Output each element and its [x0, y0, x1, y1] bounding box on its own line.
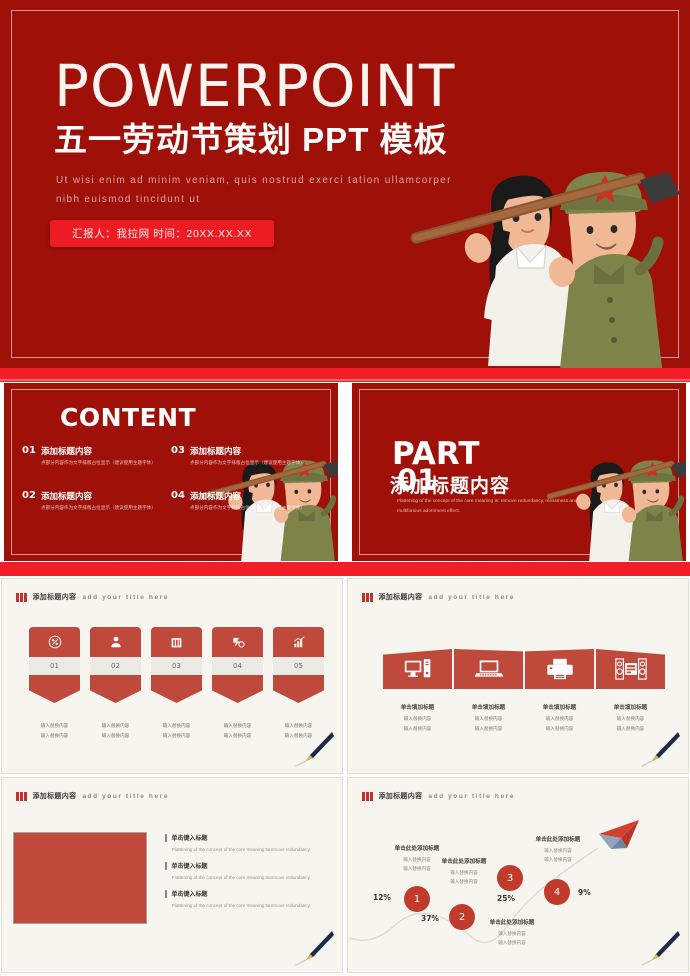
- part-english-text: Flattening of the concept of the core me…: [397, 497, 597, 517]
- ppt-template-preview: POWERPOINT 五一劳动节策划 PPT 模板 Ut wisi enim a…: [0, 0, 690, 976]
- device-card[interactable]: [525, 649, 594, 689]
- chart-annotation-2: 单击此处添加标题 输入替换内容 输入替换内容: [426, 857, 502, 887]
- caption-line: 输入替换内容: [273, 721, 324, 731]
- banner-captions: 输入替换内容 输入替换内容 输入替换内容 输入替换内容 输入替换内容 输入替换内…: [29, 721, 324, 740]
- banner-icon-area: [29, 627, 80, 657]
- caption-line: 输入替换内容: [212, 721, 263, 731]
- chart-annotation-3: 单击此处添加标题 输入替换内容 输入替换内容: [474, 918, 550, 948]
- annotation-line: 输入替换内容: [426, 877, 502, 886]
- banner-tail: [29, 675, 80, 703]
- chart-node-1[interactable]: 1: [404, 886, 430, 912]
- device-caption-line: 输入替换内容: [454, 724, 523, 734]
- annotation-line: 输入替换内容: [426, 868, 502, 877]
- toc-number: 04: [171, 490, 183, 511]
- device-card[interactable]: [383, 649, 452, 689]
- device-caption: 单击填加标题 输入替换内容 输入替换内容: [383, 703, 452, 733]
- device-caption-line: 输入替换内容: [596, 724, 665, 734]
- block-marker-icon: [165, 890, 167, 898]
- desktop-computer-icon: [404, 658, 432, 680]
- toc-row: 02 添加标题内容 点部分内容作为文字排版占位显示（建议使用主题字体） 04 添…: [22, 490, 314, 511]
- device-captions: 单击填加标题 输入替换内容 输入替换内容 单击填加标题 输入替换内容 输入替换内…: [383, 703, 665, 733]
- caption-line: 输入替换内容: [29, 721, 80, 731]
- red-bars-icon: [362, 593, 373, 602]
- banner-item[interactable]: 05: [273, 627, 324, 703]
- annotation-title: 单击此处添加标题: [520, 835, 596, 843]
- header-title-en: add your title here: [82, 793, 169, 800]
- device-caption-line: 输入替换内容: [383, 724, 452, 734]
- person-icon: [109, 635, 123, 649]
- fountain-pen-icon: [636, 729, 682, 769]
- toc-title: 添加标题内容: [41, 445, 165, 457]
- device-caption: 单击填加标题 输入替换内容 输入替换内容: [454, 703, 523, 733]
- annotation-line: 输入替换内容: [474, 938, 550, 947]
- cover-subtitle: 五一劳动节策划 PPT 模板: [54, 118, 514, 162]
- banner-item[interactable]: 03: [151, 627, 202, 703]
- slide-five-banners[interactable]: 添加标题内容 add your title here 01: [1, 578, 343, 774]
- toc-item-01[interactable]: 01 添加标题内容 点部分内容作为文字排版占位显示（建议使用主题字体）: [22, 445, 165, 466]
- toc-title: 添加标题内容: [190, 445, 314, 457]
- red-separator-strip-2: [0, 562, 690, 576]
- block-marker-icon: [165, 862, 167, 870]
- chart-node-2[interactable]: 2: [449, 904, 475, 930]
- device-card[interactable]: [596, 649, 665, 689]
- slide-header: 添加标题内容 add your title here: [16, 791, 169, 801]
- red-bars-icon: [16, 792, 27, 801]
- content-toc: 01 添加标题内容 点部分内容作为文字排版占位显示（建议使用主题字体） 03 添…: [22, 445, 314, 536]
- text-block-title: 单击键入标题: [172, 833, 208, 842]
- device-caption-title: 单击填加标题: [525, 703, 594, 711]
- toc-title: 添加标题内容: [190, 490, 314, 502]
- text-block: 单击键入标题 Flattening of the concept of the …: [165, 861, 325, 882]
- text-block-desc: Flattening of the concept of the core me…: [165, 845, 325, 854]
- toc-number: 02: [22, 490, 34, 511]
- banner-icon-area: [90, 627, 141, 657]
- red-separator-strip-1: [0, 368, 690, 382]
- banner-icon-area: [212, 627, 263, 657]
- banner-icon-area: [151, 627, 202, 657]
- device-caption-line: 输入替换内容: [525, 714, 594, 724]
- toc-desc: 点部分内容作为文字排版占位显示（建议使用主题字体）: [190, 504, 314, 511]
- caption-line: 输入替换内容: [151, 721, 202, 731]
- fountain-pen-icon: [290, 928, 336, 968]
- device-caption-title: 单击填加标题: [454, 703, 523, 711]
- percent-circle-icon: [48, 635, 62, 649]
- text-block: 单击键入标题 Flattening of the concept of the …: [165, 833, 325, 854]
- banner-item[interactable]: 01: [29, 627, 80, 703]
- toc-number: 01: [22, 445, 34, 466]
- banner-icon-area: [273, 627, 324, 657]
- toc-item-03[interactable]: 03 添加标题内容 点部分内容作为文字排版占位显示（建议使用主题字体）: [171, 445, 314, 466]
- text-block: 单击键入标题 Flattening of the concept of the …: [165, 889, 325, 910]
- device-caption-line: 输入替换内容: [383, 714, 452, 724]
- toc-desc: 点部分内容作为文字排版占位显示（建议使用主题字体）: [41, 459, 165, 466]
- printer-icon: [547, 658, 573, 680]
- laptop-icon: [474, 658, 504, 680]
- cover-title: POWERPOINT: [54, 57, 455, 115]
- cover-english-text: Ut wisi enim ad minim veniam, quis nostr…: [56, 172, 456, 209]
- banner-tail: [90, 675, 141, 703]
- toc-title: 添加标题内容: [41, 490, 165, 502]
- caption-line: 输入替换内容: [29, 731, 80, 741]
- text-block-desc: Flattening of the concept of the core me…: [165, 901, 325, 910]
- device-group: [383, 649, 665, 689]
- caption-line: 输入替换内容: [273, 731, 324, 741]
- banner-number: 03: [151, 657, 202, 675]
- annotation-title: 单击此处添加标题: [379, 844, 455, 852]
- percent-money-icon: [231, 635, 245, 649]
- toc-item-04[interactable]: 04 添加标题内容 点部分内容作为文字排版占位显示（建议使用主题字体）: [171, 490, 314, 511]
- annotation-line: 输入替换内容: [520, 855, 596, 864]
- toc-desc: 点部分内容作为文字排版占位显示（建议使用主题字体）: [190, 459, 314, 466]
- caption-line: 输入替换内容: [151, 731, 202, 741]
- text-block-title: 单击键入标题: [172, 861, 208, 870]
- banner-item[interactable]: 04: [212, 627, 263, 703]
- banner-tail: [151, 675, 202, 703]
- toc-item-02[interactable]: 02 添加标题内容 点部分内容作为文字排版占位显示（建议使用主题字体）: [22, 490, 165, 511]
- banner-number: 05: [273, 657, 324, 675]
- header-title-cn: 添加标题内容: [33, 791, 77, 801]
- header-title-cn: 添加标题内容: [379, 592, 423, 602]
- caption-line: 输入替换内容: [212, 731, 263, 741]
- banner-number: 02: [90, 657, 141, 675]
- device-caption: 单击填加标题 输入替换内容 输入替换内容: [596, 703, 665, 733]
- toc-number: 03: [171, 445, 183, 466]
- chart-value-3: 25%: [497, 894, 515, 903]
- banner-group: 01 02: [29, 627, 324, 703]
- annotation-line: 输入替换内容: [520, 846, 596, 855]
- chart-value-1: 12%: [373, 893, 391, 902]
- slide-devices[interactable]: 添加标题内容 add your title here: [347, 578, 689, 774]
- device-caption-line: 输入替换内容: [596, 714, 665, 724]
- banner-caption: 输入替换内容 输入替换内容: [151, 721, 202, 740]
- red-bars-icon: [16, 593, 27, 602]
- chart-growth-icon: [292, 635, 306, 649]
- banner-tail: [212, 675, 263, 703]
- slide-header: 添加标题内容 add your title here: [16, 592, 169, 602]
- bar-building-icon: [170, 636, 183, 649]
- slide-part-divider[interactable]: PART 01 添加标题内容 Flattening of the concept…: [352, 383, 686, 561]
- text-block-list: 单击键入标题 Flattening of the concept of the …: [165, 833, 325, 918]
- caption-line: 输入替换内容: [90, 731, 141, 741]
- device-caption-title: 单击填加标题: [596, 703, 665, 711]
- header-title-en: add your title here: [428, 594, 515, 601]
- text-block-desc: Flattening of the concept of the core me…: [165, 873, 325, 882]
- chart-value-2: 37%: [421, 914, 439, 923]
- slide-cover[interactable]: POWERPOINT 五一劳动节策划 PPT 模板 Ut wisi enim a…: [0, 0, 690, 368]
- block-marker-icon: [165, 834, 167, 842]
- slide-process-chart[interactable]: 添加标题内容 add your title here 1 2 3 4 12% 3…: [347, 777, 689, 973]
- device-caption: 单击填加标题 输入替换内容 输入替换内容: [525, 703, 594, 733]
- banner-item[interactable]: 02: [90, 627, 141, 703]
- banner-caption: 输入替换内容 输入替换内容: [29, 721, 80, 740]
- stereo-system-icon: [615, 658, 647, 680]
- slide-image-text[interactable]: 添加标题内容 add your title here 单击键入标题 Flatte…: [1, 777, 343, 973]
- banner-caption: 输入替换内容 输入替换内容: [90, 721, 141, 740]
- part-title: 添加标题内容: [390, 471, 510, 498]
- banner-tail: [273, 675, 324, 703]
- toc-row: 01 添加标题内容 点部分内容作为文字排版占位显示（建议使用主题字体） 03 添…: [22, 445, 314, 466]
- banner-caption: 输入替换内容 输入替换内容: [212, 721, 263, 740]
- caption-line: 输入替换内容: [90, 721, 141, 731]
- annotation-line: 输入替换内容: [474, 929, 550, 938]
- banner-number: 01: [29, 657, 80, 675]
- cover-presenter-badge: 汇报人：我拉网 时间：20XX.XX.XX: [50, 220, 274, 247]
- device-caption-line: 输入替换内容: [525, 724, 594, 734]
- slide-content[interactable]: CONTENT 01 添加标题内容 点部分内容作为文字排版占位显示（建议使用主题…: [4, 383, 338, 561]
- header-title-en: add your title here: [82, 594, 169, 601]
- chart-annotation-4: 单击此处添加标题 输入替换内容 输入替换内容: [520, 835, 596, 865]
- device-card[interactable]: [454, 649, 523, 689]
- header-title-cn: 添加标题内容: [33, 592, 77, 602]
- device-caption-line: 输入替换内容: [454, 714, 523, 724]
- slide-header: 添加标题内容 add your title here: [362, 592, 515, 602]
- text-block-title: 单击键入标题: [172, 889, 208, 898]
- chart-value-4: 9%: [578, 888, 591, 897]
- banner-number: 04: [212, 657, 263, 675]
- chart-node-4[interactable]: 4: [544, 879, 570, 905]
- toc-desc: 点部分内容作为文字排版占位显示（建议使用主题字体）: [41, 504, 165, 511]
- annotation-title: 单击此处添加标题: [426, 857, 502, 865]
- device-caption-title: 单击填加标题: [383, 703, 452, 711]
- content-heading: CONTENT: [60, 406, 155, 430]
- banner-caption: 输入替换内容 输入替换内容: [273, 721, 324, 740]
- image-placeholder[interactable]: [13, 832, 147, 924]
- annotation-title: 单击此处添加标题: [474, 918, 550, 926]
